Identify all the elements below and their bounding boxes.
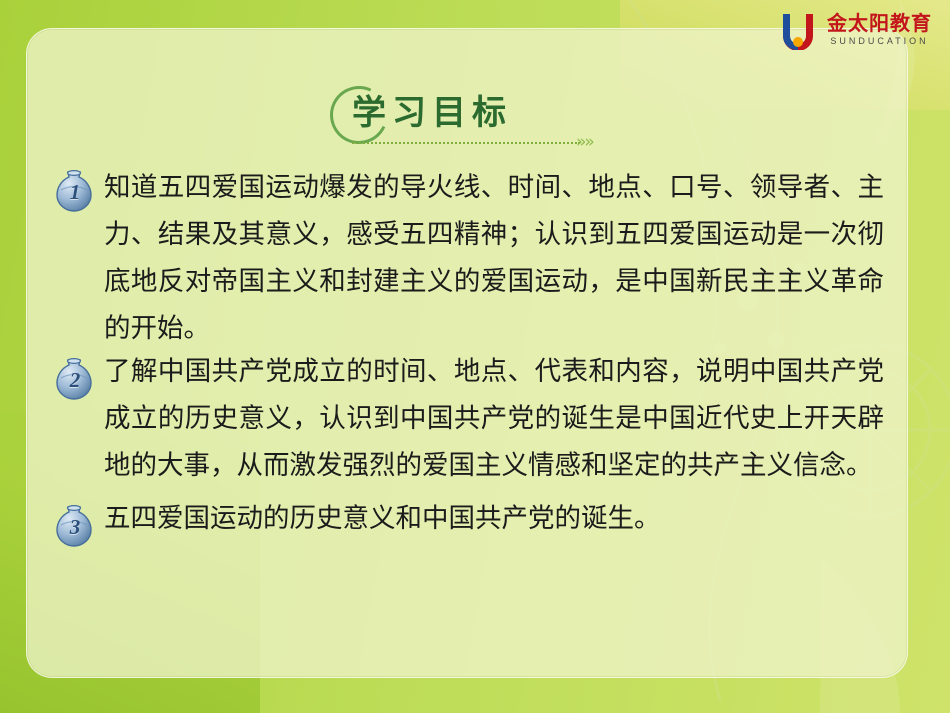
logo-name-en: SUNDUCATION [827,37,932,46]
list-item: 2 了解中国共产党成立的时间、地点、代表和内容，说明中国共产党成立的历史意义，认… [48,348,884,489]
title-arrows-decor: »» [576,132,593,152]
title-underline-decor [352,142,580,144]
list-item-text: 五四爱国运动的历史意义和中国共产党的诞生。 [104,495,884,542]
list-item: 3 五四爱国运动的历史意义和中国共产党的诞生。 [48,495,884,553]
sun-logo-icon [777,8,819,50]
list-item-number: 1 [48,166,100,218]
list-item-number: 3 [48,501,100,553]
list-item: 1 知道五四爱国运动爆发的导火线、时间、地点、口号、领导者、主力、结果及其意义，… [48,160,884,352]
logo-name-cn: 金太阳教育 [827,13,932,33]
slide-canvas: 金太阳教育 SUNDUCATION 学习目标 »» [0,0,950,713]
list-item-text: 知道五四爱国运动爆发的导火线、时间、地点、口号、领导者、主力、结果及其意义，感受… [104,160,884,352]
list-item-number: 2 [48,354,100,406]
ceramic-vase-number-icon: 1 [48,166,100,218]
ceramic-vase-number-icon: 3 [48,501,100,553]
objectives-list: 1 知道五四爱国运动爆发的导火线、时间、地点、口号、领导者、主力、结果及其意义，… [48,160,884,555]
ceramic-vase-number-icon: 2 [48,354,100,406]
brand-logo: 金太阳教育 SUNDUCATION [777,8,932,50]
slide-title: 学习目标 »» [330,96,630,156]
page-title: 学习目标 [330,96,630,130]
list-item-text: 了解中国共产党成立的时间、地点、代表和内容，说明中国共产党成立的历史意义，认识到… [104,348,884,489]
